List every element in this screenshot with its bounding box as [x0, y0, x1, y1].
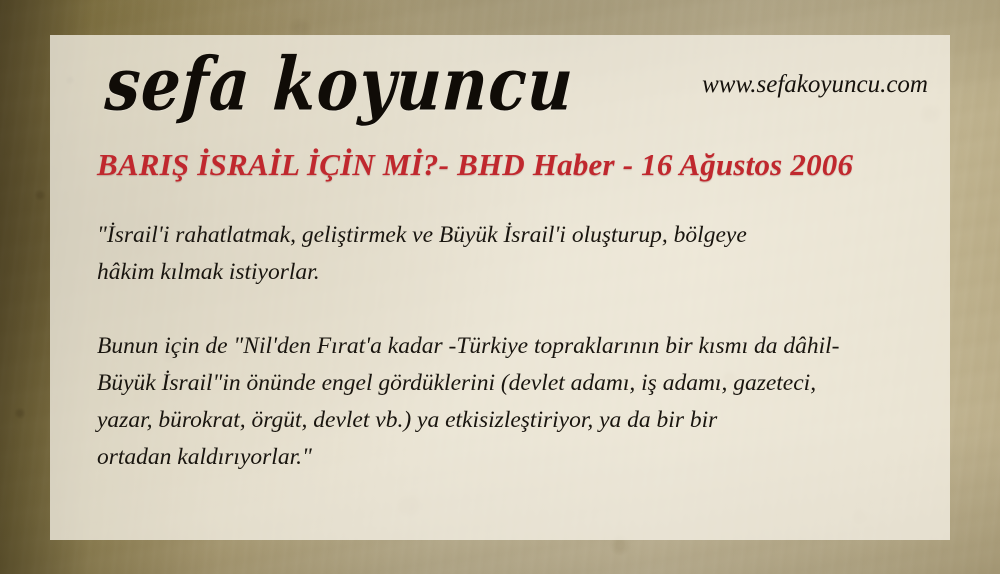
article: BARIŞ İSRAİL İÇİN Mİ?- BHD Haber - 16 Ağ… — [97, 147, 917, 476]
paragraph-line: yazar, bürokrat, örgüt, devlet vb.) ya e… — [97, 402, 897, 439]
content-panel: sefa koyuncu www.sefakoyuncu.com BARIŞ İ… — [50, 35, 950, 540]
website-url: www.sefakoyuncu.com — [702, 71, 928, 99]
paragraph-line: hâkim kılmak istiyorlar. — [97, 254, 897, 291]
screenshot-canvas: sefa koyuncu www.sefakoyuncu.com BARIŞ İ… — [0, 0, 1000, 574]
article-paragraph-2: Bunun için de "Nil'den Fırat'a kadar -Tü… — [97, 328, 897, 476]
article-title: BARIŞ İSRAİL İÇİN Mİ?- BHD Haber - 16 Ağ… — [97, 147, 917, 183]
paragraph-line: Büyük İsrail"in önünde engel gördüklerin… — [97, 365, 897, 402]
article-paragraph-1: "İsrail'i rahatlatmak, geliştirmek ve Bü… — [97, 217, 897, 291]
paragraph-line: Bunun için de "Nil'den Fırat'a kadar -Tü… — [97, 328, 897, 365]
header: sefa koyuncu www.sefakoyuncu.com — [50, 35, 950, 140]
paragraph-line: "İsrail'i rahatlatmak, geliştirmek ve Bü… — [97, 217, 897, 254]
paragraph-line: ortadan kaldırıyorlar." — [97, 439, 897, 476]
content-panel-inner: sefa koyuncu www.sefakoyuncu.com BARIŞ İ… — [50, 35, 950, 540]
brand-logo: sefa koyuncu — [103, 41, 576, 127]
